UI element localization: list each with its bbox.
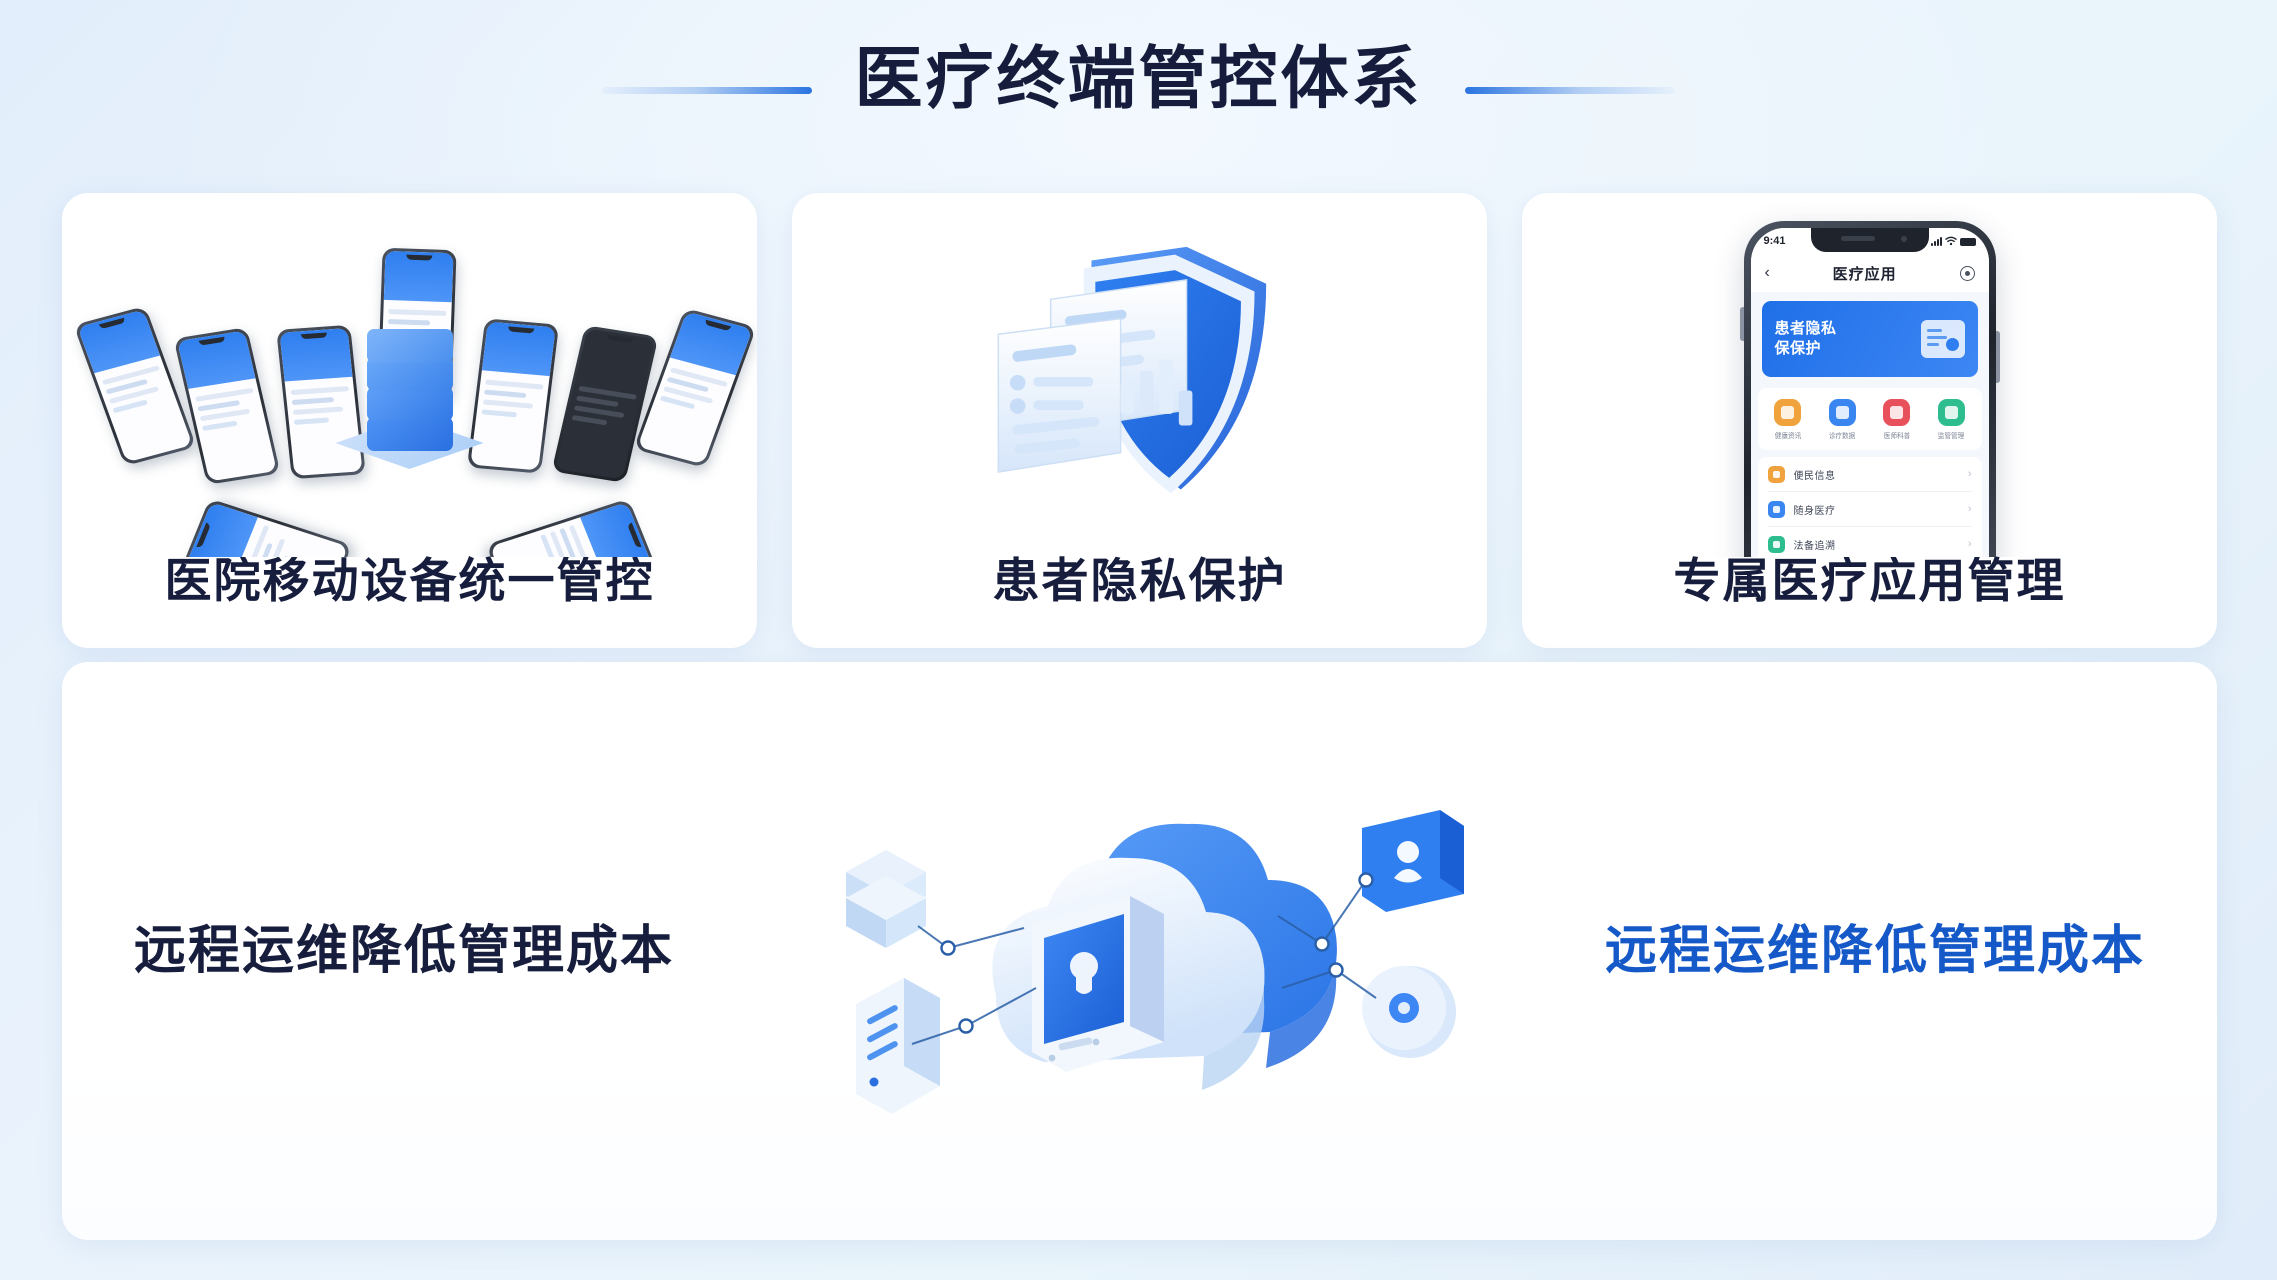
card-medical-app-management[interactable]: 9:41 ‹ 医疗应用 bbox=[1522, 193, 2217, 648]
app-shortcut[interactable]: 健康资讯 bbox=[1763, 399, 1813, 441]
cloud-network-icon bbox=[800, 776, 1480, 1126]
card-mobile-device-control[interactable]: 医院移动设备统一管控 bbox=[62, 193, 757, 648]
info-icon bbox=[1768, 466, 1785, 483]
phone-device-frame: 9:41 ‹ 医疗应用 bbox=[1744, 221, 1996, 557]
list-item[interactable]: 随身医疗 › bbox=[1768, 492, 1972, 527]
app-shortcut[interactable]: 诊疗数据 bbox=[1817, 399, 1867, 441]
phone-menu-list: 便民信息 › 随身医疗 › 法备追溯 › bbox=[1758, 457, 1982, 557]
shield-documents-icon bbox=[792, 193, 1487, 557]
target-icon[interactable] bbox=[1960, 266, 1975, 281]
card-label: 医院移动设备统一管控 bbox=[165, 557, 655, 604]
app-shortcut[interactable]: 医师科普 bbox=[1872, 399, 1922, 441]
user-card-icon bbox=[1362, 810, 1464, 912]
server-tower-icon bbox=[856, 978, 940, 1114]
shield-icon bbox=[975, 210, 1305, 540]
card-label: 专属医疗应用管理 bbox=[1674, 557, 2066, 604]
phones-around-server-icon bbox=[62, 193, 757, 557]
chevron-right-icon: › bbox=[1968, 538, 1972, 550]
remote-ops-label-right: 远程运维降低管理成本 bbox=[1605, 925, 2145, 977]
card-patient-privacy[interactable]: 患者隐私保护 bbox=[792, 193, 1487, 648]
health-news-icon bbox=[1774, 399, 1801, 426]
doctor-guide-icon bbox=[1883, 399, 1910, 426]
supervision-icon bbox=[1938, 399, 1965, 426]
phone-mockup: 9:41 ‹ 医疗应用 bbox=[1522, 193, 2217, 557]
app-shortcut[interactable]: 监管管理 bbox=[1926, 399, 1976, 441]
page-header: 医疗终端管控体系 bbox=[0, 24, 2277, 134]
chevron-right-icon: › bbox=[1968, 503, 1972, 515]
list-item-label: 法备追溯 bbox=[1794, 537, 1959, 552]
app-shortcut-label: 监管管理 bbox=[1938, 431, 1965, 441]
feature-card-grid: 医院移动设备统一管控 bbox=[62, 193, 2217, 648]
remote-ops-label-left: 远程运维降低管理成本 bbox=[134, 925, 674, 977]
phone-nav-bar: ‹ 医疗应用 bbox=[1751, 254, 1989, 292]
clinic-data-icon bbox=[1829, 399, 1856, 426]
banner-line-1: 患者隐私 bbox=[1775, 320, 1837, 337]
title-decorative-line-right bbox=[1465, 87, 1675, 94]
list-item[interactable]: 便民信息 › bbox=[1768, 457, 1972, 492]
phone-notch bbox=[1811, 228, 1929, 252]
trace-icon bbox=[1768, 536, 1785, 553]
mobile-care-icon bbox=[1768, 501, 1785, 518]
app-shortcut-label: 医师科普 bbox=[1883, 431, 1910, 441]
list-item-label: 便民信息 bbox=[1794, 467, 1959, 482]
server-stack-icon bbox=[335, 329, 485, 469]
list-item[interactable]: 法备追溯 › bbox=[1768, 527, 1972, 557]
document-card-icon bbox=[1921, 320, 1965, 358]
app-shortcut-label: 诊疗数据 bbox=[1829, 431, 1856, 441]
back-icon[interactable]: ‹ bbox=[1765, 265, 1770, 281]
phone-nav-title: 医疗应用 bbox=[1833, 263, 1897, 284]
signal-icon bbox=[1931, 237, 1942, 246]
page-title: 医疗终端管控体系 bbox=[854, 45, 1422, 113]
app-shortcut-grid: 健康资讯 诊疗数据 医师科普 监管管理 bbox=[1758, 388, 1982, 450]
battery-icon bbox=[1960, 238, 1976, 246]
wifi-icon bbox=[1945, 236, 1957, 246]
banner-line-2: 保保护 bbox=[1775, 340, 1822, 357]
privacy-banner[interactable]: 患者隐私 保保护 bbox=[1762, 301, 1978, 377]
title-decorative-line-left bbox=[602, 87, 812, 94]
app-shortcut-label: 健康资讯 bbox=[1774, 431, 1801, 441]
remote-ops-panel: 远程运维降低管理成本 bbox=[62, 662, 2217, 1240]
stacked-box-icon bbox=[846, 850, 926, 948]
status-time: 9:41 bbox=[1764, 235, 1786, 247]
chevron-right-icon: › bbox=[1968, 468, 1972, 480]
list-item-label: 随身医疗 bbox=[1794, 502, 1959, 517]
card-label: 患者隐私保护 bbox=[993, 557, 1287, 604]
disc-icon bbox=[1362, 966, 1456, 1058]
